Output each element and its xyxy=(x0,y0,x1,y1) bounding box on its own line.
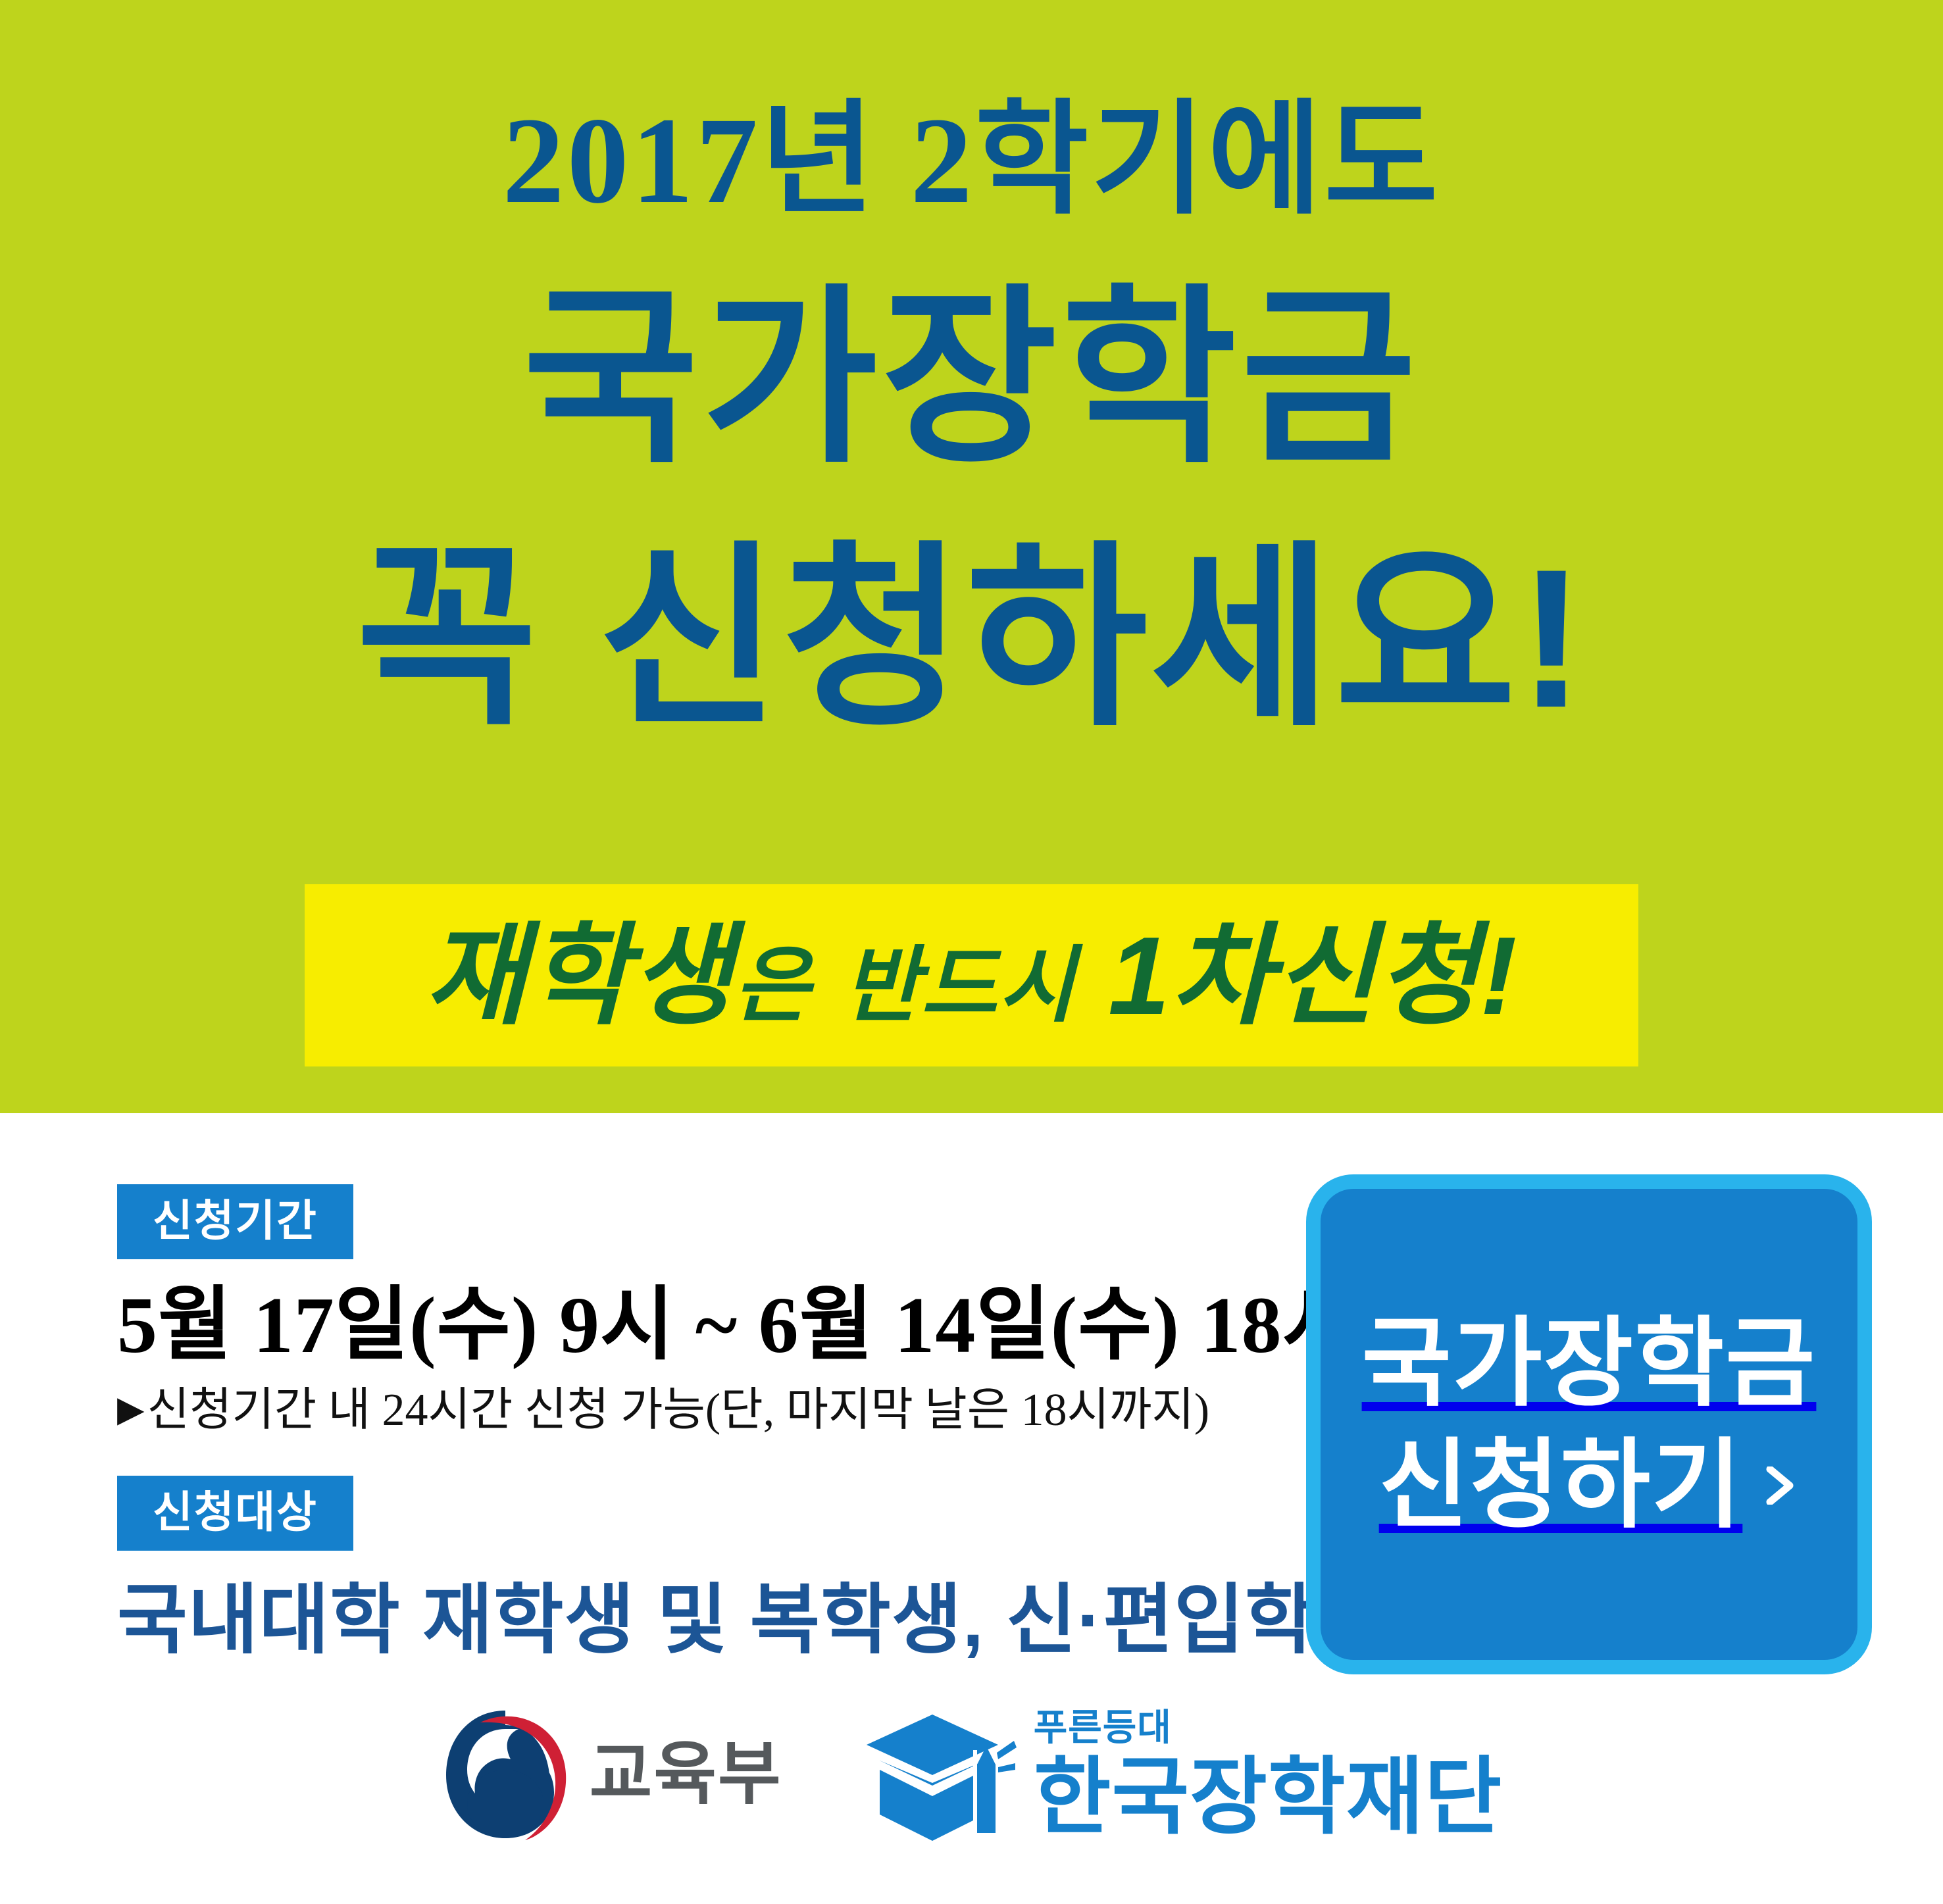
scholarship-announcement-banner: 2017년 2학기에도 국가장학금 꼭 신청하세요! 재학생은 반드시 1차신청… xyxy=(0,0,1943,1904)
application-period-note: ▶신청기간 내 24시간 신청 가능(단, 마지막 날은 18시까지) xyxy=(117,1384,1275,1438)
korea-government-taegeuk-icon xyxy=(441,1705,570,1843)
highlight-part-particle: 은 xyxy=(734,939,811,1032)
badge-application-period: 신청기간 xyxy=(117,1184,353,1259)
highlight-part-must: 반드시 xyxy=(844,939,1076,1032)
cta-line-2-wrapper: 신청하기 xyxy=(1379,1424,1800,1546)
footer-logos: 교육부 xyxy=(0,1704,1943,1845)
apply-scholarship-button[interactable]: 국가장학금 신청하기 xyxy=(1306,1174,1872,1674)
highlight-part-first-round: 1차신청! xyxy=(1108,914,1518,1038)
kosaf-label: 한국장학재단 xyxy=(1034,1755,1503,1840)
hero-title-line-2: 꼭 신청하세요! xyxy=(0,539,1943,737)
info-column: 신청기간 5월 17일(수) 9시 ~ 6월 14일(수) 18시 ▶신청기간 … xyxy=(117,1184,1275,1662)
application-target-value: 국내대학 재학생 및 복학생, 신·편입학생 xyxy=(117,1578,1275,1663)
ministry-of-education-logo: 교육부 xyxy=(441,1705,782,1843)
graduation-cap-lighthouse-icon xyxy=(861,1704,1018,1845)
note-text: 신청기간 내 24시간 신청 가능(단, 마지막 날은 18시까지) xyxy=(147,1385,1210,1436)
badge-application-target: 신청대상 xyxy=(117,1476,353,1551)
kosaf-logo: 푸른등대 한국장학재단 xyxy=(861,1704,1503,1845)
chevron-right-icon xyxy=(1761,1466,1799,1505)
kosaf-sub-label: 푸른등대 xyxy=(1034,1709,1503,1746)
application-period-value: 5월 17일(수) 9시 ~ 6월 14일(수) 18시 xyxy=(117,1282,1275,1370)
ministry-of-education-label: 교육부 xyxy=(590,1740,782,1809)
hero-title-line-1: 국가장학금 xyxy=(0,283,1943,474)
hero-section: 2017년 2학기에도 국가장학금 꼭 신청하세요! 재학생은 반드시 1차신청… xyxy=(0,0,1943,1113)
note-arrow-icon: ▶ xyxy=(117,1390,145,1429)
hero-kicker: 2017년 2학기에도 xyxy=(0,99,1943,222)
badge-target-wrapper: 신청대상 xyxy=(117,1476,1275,1551)
cta-line-1: 국가장학금 xyxy=(1362,1303,1817,1424)
cta-line-2: 신청하기 xyxy=(1379,1424,1743,1546)
hero-highlight-text: 재학생은 반드시 1차신청! xyxy=(425,920,1519,1031)
highlight-part-students: 재학생 xyxy=(425,914,734,1038)
kosaf-wordmark: 푸른등대 한국장학재단 xyxy=(1034,1709,1503,1840)
hero-highlight-bar: 재학생은 반드시 1차신청! xyxy=(305,884,1638,1066)
